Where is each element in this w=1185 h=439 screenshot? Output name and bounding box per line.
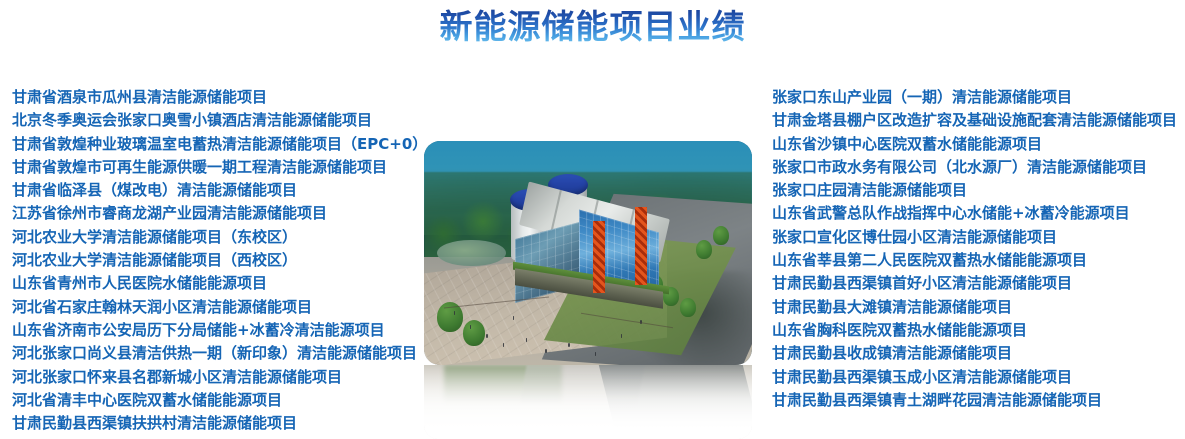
tree-icon — [713, 226, 729, 245]
person-figure — [568, 343, 570, 347]
person-figure — [545, 349, 547, 353]
frame-column — [517, 213, 525, 294]
list-item: 山东省济南市公安局历下分局储能+冰蓄冷清洁能源项目 — [12, 319, 422, 342]
list-item: 江苏省徐州市睿商龙湖产业园清洁能源储能项目 — [12, 202, 422, 225]
list-item: 山东省青州市人民医院水储能能源项目 — [12, 272, 422, 295]
poster-root: 新能源储能项目业绩 甘肃省酒泉市瓜州县清洁能源储能项目 北京冬季奥运会张家口奥雪… — [0, 0, 1185, 439]
list-item: 甘肃民勤县收成镇清洁能源储能项目 — [772, 342, 1182, 365]
list-item: 甘肃民勤县大滩镇清洁能源储能项目 — [772, 296, 1182, 319]
right-project-list: 张家口东山产业园（一期）清洁能源储能项目 甘肃金塔县棚户区改造扩容及基础设施配套… — [772, 86, 1182, 412]
list-item: 甘肃省酒泉市瓜州县清洁能源储能项目 — [12, 86, 422, 109]
list-item: 河北省石家庄翰林天润小区清洁能源储能项目 — [12, 296, 422, 319]
tree-icon — [696, 240, 712, 259]
frame-truss — [593, 221, 605, 293]
reflection-fade-overlay — [424, 365, 752, 439]
person-figure — [526, 338, 528, 342]
list-item: 河北省清丰中心医院双蓄水储能能源项目 — [12, 389, 422, 412]
photo-canvas — [424, 141, 752, 365]
pond — [437, 240, 506, 267]
list-item: 山东省武警总队作战指挥中心水储能+冰蓄冷能源项目 — [772, 202, 1182, 225]
list-item: 甘肃民勤县西渠镇首好小区清洁能源储能项目 — [772, 272, 1182, 295]
frame-truss — [635, 207, 647, 285]
page-title-container: 新能源储能项目业绩 — [0, 6, 1185, 52]
person-figure — [503, 343, 505, 347]
left-project-list: 甘肃省酒泉市瓜州县清洁能源储能项目 北京冬季奥运会张家口奥雪小镇酒店清洁能源储能… — [12, 86, 422, 435]
list-item: 甘肃金塔县棚户区改造扩容及基础设施配套清洁能源储能项目 — [772, 109, 1182, 132]
list-item: 张家口宣化区博仕园小区清洁能源储能项目 — [772, 226, 1182, 249]
list-item: 甘肃民勤县西渠镇青土湖畔花园清洁能源储能项目 — [772, 389, 1182, 412]
person-figure — [454, 311, 456, 315]
list-item: 河北农业大学清洁能源储能项目（西校区） — [12, 249, 422, 272]
list-item: 甘肃省敦煌市可再生能源供暖一期工程清洁能源储能项目 — [12, 156, 422, 179]
list-item: 甘肃民勤县西渠镇玉成小区清洁能源储能项目 — [772, 366, 1182, 389]
photo-reflection — [424, 365, 752, 439]
list-item: 河北张家口怀来县名郡新城小区清洁能源储能项目 — [12, 366, 422, 389]
list-item: 张家口东山产业园（一期）清洁能源储能项目 — [772, 86, 1182, 109]
list-item: 山东省莘县第二人民医院双蓄热水储能能源项目 — [772, 249, 1182, 272]
frame-column — [576, 205, 585, 299]
list-item: 甘肃民勤县西渠镇扶拱村清洁能源储能项目 — [12, 412, 422, 435]
frame-column — [617, 196, 626, 293]
list-item: 北京冬季奥运会张家口奥雪小镇酒店清洁能源储能项目 — [12, 109, 422, 132]
list-item: 河北张家口尚义县清洁供热一期（新印象）清洁能源储能项目 — [12, 342, 422, 365]
person-figure — [486, 334, 488, 338]
person-figure — [595, 352, 597, 356]
frame-column — [659, 191, 668, 288]
list-item: 甘肃省临泽县（煤改电）清洁能源储能项目 — [12, 179, 422, 202]
list-item: 山东省胸科医院双蓄热水储能能源项目 — [772, 319, 1182, 342]
tree-icon — [463, 320, 485, 346]
list-item: 张家口市政水务有限公司（北水源厂）清洁能源储能项目 — [772, 156, 1182, 179]
list-item: 甘肃省敦煌种业玻璃温室电蓄热清洁能源储能项目（EPC+0） — [12, 133, 422, 156]
person-figure — [513, 316, 515, 320]
energy-storage-building — [499, 177, 689, 316]
project-photo — [424, 141, 752, 365]
list-item: 张家口庄园清洁能源储能项目 — [772, 179, 1182, 202]
list-item: 河北农业大学清洁能源储能项目（东校区） — [12, 226, 422, 249]
list-item: 山东省沙镇中心医院双蓄水储能能源项目 — [772, 133, 1182, 156]
page-title: 新能源储能项目业绩 — [440, 6, 746, 48]
